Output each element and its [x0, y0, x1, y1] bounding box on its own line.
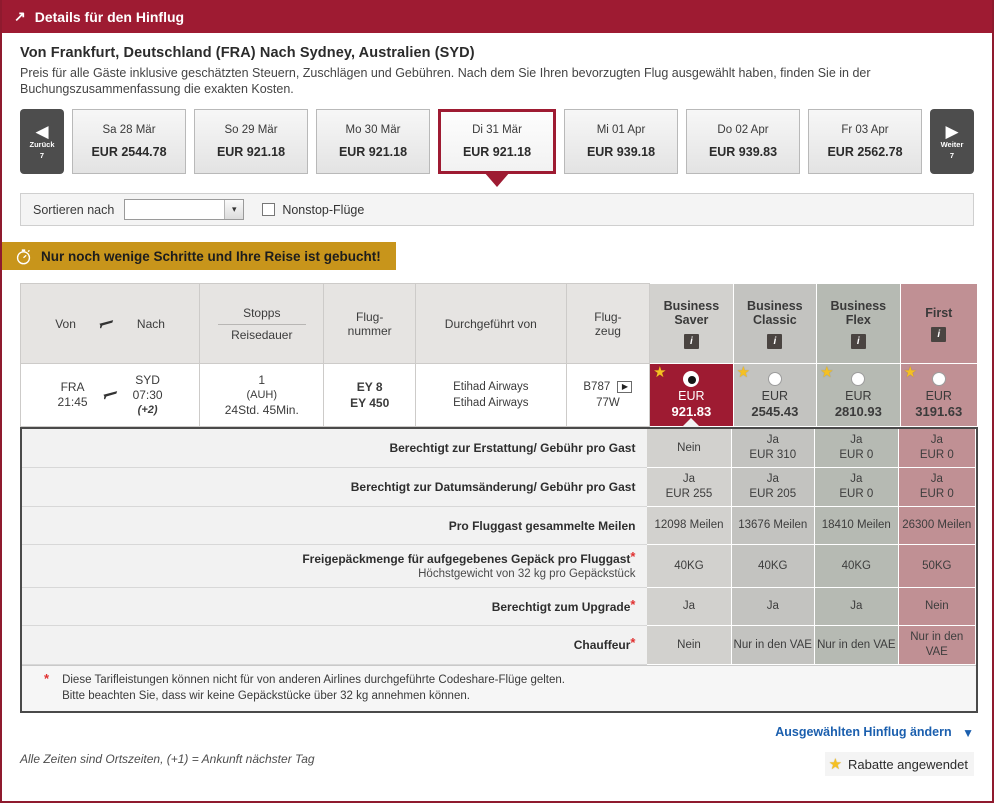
prev-dates-label: Zurück	[29, 140, 54, 150]
date-tab-day: Fr 03 Apr	[841, 124, 888, 136]
comparison-value-flex: 18410 Meilen	[815, 507, 899, 545]
comparison-value-saver: Nein	[647, 626, 731, 665]
comparison-row-label: Berechtigt zur Datumsänderung/ Gebühr pr…	[22, 468, 647, 507]
date-tab-price: EUR 921.18	[339, 145, 407, 159]
to-day-offset: (+2)	[133, 403, 163, 418]
comparison-value-first: 26300 Meilen	[898, 507, 975, 545]
date-tab-price: EUR 2544.78	[91, 145, 166, 159]
value-line1: Ja	[817, 433, 896, 448]
date-tab-price: EUR 921.18	[217, 145, 285, 159]
from-code: FRA	[58, 380, 88, 395]
comparison-row-chauffeur: Chauffeur* Nein Nur in den VAE Nur in de…	[22, 626, 976, 665]
change-outbound-flight-link[interactable]: Ausgewählten Hinflug ändern ▼	[20, 725, 974, 739]
stop-via: (AUH)	[200, 388, 323, 403]
prev-dates-button[interactable]: ◀ Zurück 7	[20, 109, 64, 174]
label-text: Berechtigt zur Erstattung/ Gebühr pro Ga…	[389, 441, 635, 455]
date-tab-0[interactable]: Sa 28 Mär EUR 2544.78	[72, 109, 186, 174]
comparison-row-baggage: Freigepäckmenge für aufgegebenes Gepäck …	[22, 545, 976, 588]
info-icon[interactable]: i	[684, 334, 699, 349]
comparison-row-label: Pro Fluggast gesammelte Meilen	[22, 507, 647, 545]
fare-name-line1: First	[901, 306, 977, 320]
date-tab-3-selected[interactable]: Di 31 Mär EUR 921.18	[438, 109, 556, 174]
fare-radio-business-classic[interactable]	[768, 372, 782, 386]
value-line2: EUR 0	[901, 487, 973, 502]
value-line1: Ja	[901, 433, 973, 448]
value-line1: Ja	[649, 472, 728, 487]
play-icon[interactable]: ▶	[617, 381, 632, 393]
fare-name-line1: Business	[734, 299, 816, 313]
header-nach-label: Nach	[137, 317, 165, 331]
sort-label: Sortieren nach	[33, 203, 114, 217]
value-line2: EUR 310	[734, 448, 813, 463]
fare-name-line2: Flex	[817, 313, 899, 327]
comparison-value-classic: Ja EUR 205	[731, 468, 815, 507]
comparison-value-first: Nein	[898, 588, 975, 626]
cell-durchgefuehrt-von: Etihad Airways Etihad Airways	[416, 364, 567, 427]
value-line1: Ja	[734, 433, 813, 448]
airplane-icon	[98, 315, 115, 333]
header-flugnummer-line2: nummer	[324, 324, 415, 338]
price-amount: 921.83	[671, 404, 711, 419]
value-line2: EUR 255	[649, 487, 728, 502]
comparison-row-date-change: Berechtigt zur Datumsänderung/ Gebühr pr…	[22, 468, 976, 507]
stops-count: 1	[200, 373, 323, 388]
cell-flugnummer: EY 8 EY 450	[324, 364, 416, 427]
price-cell-business-saver[interactable]: ★ EUR 921.83	[650, 364, 733, 427]
sort-select[interactable]: ▾	[124, 199, 244, 220]
fare-name-line1: Business	[817, 299, 899, 313]
date-tab-price: EUR 921.18	[463, 145, 531, 159]
operator-1: Etihad Airways	[416, 379, 566, 395]
discount-applied-badge: ★ Rabatte angewendet	[825, 752, 974, 776]
fare-comparison-block: Berechtigt zur Erstattung/ Gebühr pro Ga…	[20, 427, 978, 713]
value-line2: EUR 205	[734, 487, 813, 502]
info-icon[interactable]: i	[851, 334, 866, 349]
to-time: 07:30	[133, 388, 163, 403]
comparison-row-label: Freigepäckmenge für aufgegebenes Gepäck …	[22, 545, 647, 588]
price-cell-business-flex[interactable]: ★ EUR 2810.93	[817, 364, 900, 427]
price-amount: 3191.63	[915, 404, 962, 419]
asterisk-marker: *	[630, 635, 635, 650]
stopwatch-icon	[15, 248, 32, 265]
footnote-line-1: Diese Tarifleistungen können nicht für v…	[62, 672, 565, 688]
fare-table-wrapper: Von Nach Stopps Reisedauer	[2, 270, 992, 427]
date-strip: ◀ Zurück 7 Sa 28 Mär EUR 2544.78 So 29 M…	[2, 101, 992, 187]
intro-text: Preis für alle Gäste inklusive geschätzt…	[20, 65, 935, 97]
selected-date-pointer	[484, 172, 510, 187]
asterisk-marker: *	[630, 597, 635, 612]
caret-down-icon: ▼	[962, 726, 974, 740]
date-tab-day: So 29 Mär	[224, 124, 277, 136]
asterisk-marker: *	[32, 672, 49, 704]
fare-table: Von Nach Stopps Reisedauer	[20, 283, 978, 427]
airplane-icon	[102, 386, 119, 404]
header-flugzeug-line1: Flug-	[567, 310, 649, 324]
comparison-value-first: Ja EUR 0	[898, 468, 975, 507]
comparison-value-classic: Ja EUR 310	[731, 429, 815, 468]
header-fare-business-classic: Business Classic i	[733, 284, 816, 364]
prev-dates-count: 7	[40, 151, 44, 160]
value-line2: EUR 0	[817, 448, 896, 463]
value-line1: Ja	[817, 472, 896, 487]
header-stopps-reisedauer: Stopps Reisedauer	[200, 284, 324, 364]
bottom-row: Alle Zeiten sind Ortszeiten, (+1) = Anku…	[20, 752, 974, 776]
header-fare-first: First i	[900, 284, 977, 364]
value-line1: Nein	[649, 441, 728, 456]
to-code: SYD	[133, 373, 163, 388]
next-dates-button[interactable]: ▶ Weiter 7	[930, 109, 974, 174]
info-icon[interactable]: i	[931, 327, 946, 342]
header-flugzeug-line2: zeug	[567, 324, 649, 338]
route-heading: Von Frankfurt, Deutschland (FRA) Nach Sy…	[20, 45, 974, 61]
header-flugnummer-line1: Flug-	[324, 310, 415, 324]
local-times-note: Alle Zeiten sind Ortszeiten, (+1) = Anku…	[20, 752, 315, 766]
comparison-value-saver: 12098 Meilen	[647, 507, 731, 545]
panel-titlebar: ↗ Details für den Hinflug	[2, 0, 992, 33]
comparison-value-classic: Nur in den VAE	[731, 626, 815, 665]
flight-number-2: EY 450	[324, 395, 415, 411]
price-cell-inner[interactable]: EUR 2810.93	[817, 364, 899, 426]
flight-number-1: EY 8	[324, 379, 415, 395]
price-cell-first[interactable]: ★ EUR 3191.63	[900, 364, 977, 427]
aircraft-2: 77W	[567, 395, 649, 411]
fare-radio-business-saver[interactable]	[684, 372, 698, 386]
fare-name-line2: Saver	[650, 313, 732, 327]
price-currency: EUR	[762, 389, 788, 403]
comparison-value-flex: Ja EUR 0	[815, 429, 899, 468]
fare-radio-business-flex[interactable]	[851, 372, 865, 386]
price-currency: EUR	[845, 389, 871, 403]
duration: 24Std. 45Min.	[200, 403, 323, 418]
value-line2: EUR 0	[901, 448, 973, 463]
price-cell-business-classic[interactable]: ★ EUR 2545.43	[733, 364, 816, 427]
date-tab-price: EUR 939.83	[709, 145, 777, 159]
comparison-value-flex: Ja EUR 0	[815, 468, 899, 507]
comparison-row-label: Berechtigt zur Erstattung/ Gebühr pro Ga…	[22, 429, 647, 468]
header-durchgefuehrt-von: Durchgeführt von	[416, 284, 567, 364]
nonstop-checkbox-wrapper[interactable]: Nonstop-Flüge	[262, 203, 364, 217]
price-amount: 2545.43	[751, 404, 798, 419]
fare-radio-first[interactable]	[932, 372, 946, 386]
flight-row: FRA 21:45 SYD 07:30 (+2)	[21, 364, 978, 427]
comparison-value-first: 50KG	[898, 545, 975, 588]
value-line2: EUR 0	[817, 487, 896, 502]
sort-bar: Sortieren nach ▾ Nonstop-Flüge	[20, 193, 974, 226]
footnote-text: Diese Tarifleistungen können nicht für v…	[62, 672, 565, 704]
header-fare-business-saver: Business Saver i	[650, 284, 733, 364]
header-fare-business-flex: Business Flex i	[817, 284, 900, 364]
comparison-value-saver: Ja	[647, 588, 731, 626]
from-time: 21:45	[58, 395, 88, 410]
comparison-value-saver: 40KG	[647, 545, 731, 588]
header-von-label: Von	[55, 317, 76, 331]
price-amount: 2810.93	[835, 404, 882, 419]
value-line1: Ja	[734, 472, 813, 487]
date-tab-day: Sa 28 Mär	[102, 124, 155, 136]
label-text: Berechtigt zum Upgrade	[492, 600, 631, 614]
promo-text: Nur noch wenige Schritte und Ihre Reise …	[41, 249, 381, 264]
value-line1: Ja	[901, 472, 973, 487]
fare-name-line1: Business	[650, 299, 732, 313]
comparison-value-saver: Ja EUR 255	[647, 468, 731, 507]
date-tab-1[interactable]: So 29 Mär EUR 921.18	[194, 109, 308, 174]
label-text: Berechtigt zur Datumsänderung/ Gebühr pr…	[351, 480, 636, 494]
next-dates-count: 7	[950, 151, 954, 160]
page-frame: ↗ Details für den Hinflug Von Frankfurt,…	[0, 0, 994, 803]
label-text: Chauffeur	[574, 638, 631, 652]
fare-table-header-row: Von Nach Stopps Reisedauer	[21, 284, 978, 364]
comparison-value-first: Ja EUR 0	[898, 429, 975, 468]
comparison-value-saver: Nein	[647, 429, 731, 468]
promo-banner: Nur noch wenige Schritte und Ihre Reise …	[2, 242, 396, 270]
date-tab-day: Mi 01 Apr	[597, 124, 646, 136]
comparison-row-label: Berechtigt zum Upgrade*	[22, 588, 647, 626]
date-tab-price: EUR 939.18	[587, 145, 655, 159]
date-tab-day: Di 31 Mär	[472, 124, 522, 136]
date-tab-price: EUR 2562.78	[827, 145, 902, 159]
header-stopps-label: Stopps	[243, 306, 280, 323]
aircraft-1: B787	[583, 381, 610, 393]
comparison-row-miles: Pro Fluggast gesammelte Meilen 12098 Mei…	[22, 507, 976, 545]
comparison-row-refund: Berechtigt zur Erstattung/ Gebühr pro Ga…	[22, 429, 976, 468]
comparison-row-label: Chauffeur*	[22, 626, 647, 665]
bottom-section: Ausgewählten Hinflug ändern ▼ Alle Zeite…	[2, 725, 992, 776]
star-icon: ★	[829, 755, 842, 773]
discount-applied-label: Rabatte angewendet	[848, 757, 968, 772]
comparison-value-first: Nur in den VAE	[898, 626, 975, 665]
arrow-north-east-icon: ↗	[14, 9, 26, 23]
intro-section: Von Frankfurt, Deutschland (FRA) Nach Sy…	[2, 33, 992, 101]
comparison-value-flex: Nur in den VAE	[815, 626, 899, 665]
selected-fare-pointer	[682, 418, 700, 427]
panel-title: Details für den Hinflug	[35, 9, 184, 25]
operator-2: Etihad Airways	[416, 395, 566, 411]
chevron-down-icon: ▾	[224, 200, 243, 219]
comparison-value-classic: Ja	[731, 588, 815, 626]
header-reisedauer-label: Reisedauer	[231, 328, 292, 342]
header-von-nach: Von Nach	[21, 284, 200, 364]
price-currency: EUR	[678, 389, 704, 403]
nonstop-checkbox-label: Nonstop-Flüge	[282, 203, 364, 217]
fare-footnote: * Diese Tarifleistungen können nicht für…	[22, 665, 976, 711]
comparison-value-flex: Ja	[815, 588, 899, 626]
date-tab-5[interactable]: Do 02 Apr EUR 939.83	[686, 109, 800, 174]
cell-flugzeug: B787 ▶ 77W	[566, 364, 649, 427]
fare-comparison-table: Berechtigt zur Erstattung/ Gebühr pro Ga…	[22, 429, 976, 665]
cell-stopps-reisedauer: 1 (AUH) 24Std. 45Min.	[200, 364, 324, 427]
comparison-value-classic: 13676 Meilen	[731, 507, 815, 545]
change-outbound-flight-label: Ausgewählten Hinflug ändern	[775, 725, 951, 739]
label-subtext: Höchstgewicht von 32 kg pro Gepäckstück	[22, 568, 635, 580]
price-cell-inner[interactable]: EUR 921.83	[650, 364, 732, 426]
comparison-value-flex: 40KG	[815, 545, 899, 588]
fare-name-line2: Classic	[734, 313, 816, 327]
nonstop-checkbox[interactable]	[262, 203, 275, 216]
price-cell-inner[interactable]: EUR 3191.63	[901, 364, 977, 426]
header-flugnummer: Flug- nummer	[324, 284, 416, 364]
comparison-row-upgrade: Berechtigt zum Upgrade* Ja Ja Ja Nein	[22, 588, 976, 626]
cell-von-nach: FRA 21:45 SYD 07:30 (+2)	[21, 364, 200, 427]
price-cell-inner[interactable]: EUR 2545.43	[734, 364, 816, 426]
chevron-right-icon: ▶	[945, 124, 958, 139]
date-tab-2[interactable]: Mo 30 Mär EUR 921.18	[316, 109, 430, 174]
date-tab-4[interactable]: Mi 01 Apr EUR 939.18	[564, 109, 678, 174]
price-currency: EUR	[926, 389, 952, 403]
next-dates-label: Weiter	[941, 140, 964, 150]
chevron-left-icon: ◀	[35, 124, 48, 139]
footnote-line-2: Bitte beachten Sie, dass wir keine Gepäc…	[62, 688, 565, 704]
date-tab-day: Mo 30 Mär	[346, 124, 401, 136]
date-tab-day: Do 02 Apr	[717, 124, 768, 136]
label-text: Freigepäckmenge für aufgegebenes Gepäck …	[302, 552, 630, 566]
asterisk-marker: *	[630, 549, 635, 564]
comparison-value-classic: 40KG	[731, 545, 815, 588]
header-divider	[218, 324, 306, 325]
date-tab-6[interactable]: Fr 03 Apr EUR 2562.78	[808, 109, 922, 174]
header-flugzeug: Flug- zeug	[566, 284, 649, 364]
info-icon[interactable]: i	[767, 334, 782, 349]
label-text: Pro Fluggast gesammelte Meilen	[449, 519, 636, 533]
